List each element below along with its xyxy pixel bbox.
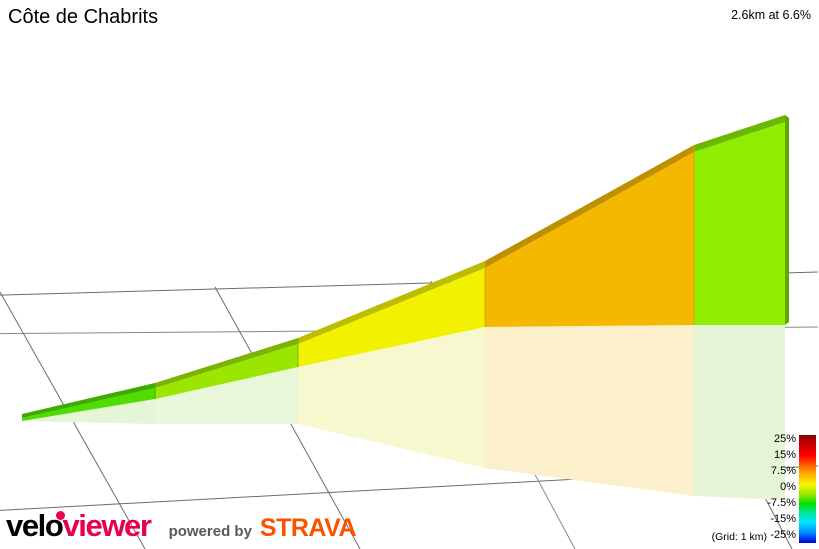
summit-end-cap [785, 115, 789, 325]
gradient-legend-labels: 25% 15% 7.5% 0% -7.5% -15% -25% [704, 433, 796, 545]
legend-label-7-5: 7.5% [771, 465, 796, 477]
veloviewer-climb-profile: Côte de Chabrits 2.6km at 6.6% [0, 0, 819, 549]
legend-label-neg-25: -25% [770, 529, 796, 541]
ribbon-face-seg-3 [485, 152, 694, 327]
veloviewer-logo-dot [56, 511, 65, 520]
legend-label-0: 0% [780, 481, 796, 493]
ribbon-face-seg-4 [694, 122, 785, 325]
veloviewer-logo[interactable]: veloviewer [6, 509, 151, 543]
gradient-color-bar [799, 435, 816, 543]
profile-canvas [0, 0, 819, 549]
powered-by-label: powered by [169, 515, 252, 549]
strava-logo[interactable]: STRAVA [260, 511, 356, 545]
end-cap-face [785, 115, 789, 325]
veloviewer-logo-velo: velo [6, 508, 62, 543]
legend-label-neg-7-5: -7.5% [767, 497, 796, 509]
ground-projection [22, 325, 785, 500]
gradient-legend: 25% 15% 7.5% 0% -7.5% -15% -25% [702, 433, 817, 545]
legend-label-15: 15% [774, 449, 796, 461]
projection-seg-3 [485, 325, 694, 496]
legend-label-neg-15: -15% [770, 513, 796, 525]
grid-spacing-note: (Grid: 1 km) [712, 531, 767, 543]
veloviewer-logo-viewer: viewer [62, 508, 150, 543]
legend-label-25: 25% [774, 433, 796, 445]
branding-bar: veloviewer powered by STRAVA [6, 509, 356, 543]
